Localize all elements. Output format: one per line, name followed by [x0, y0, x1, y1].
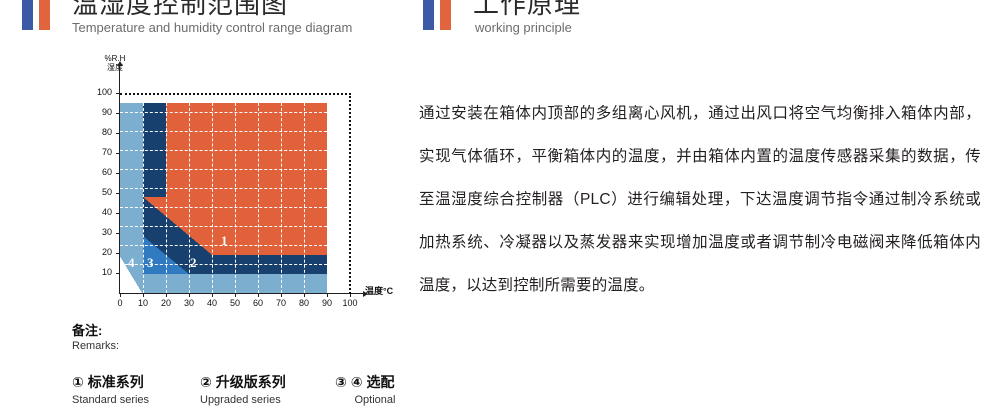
y-tick [116, 93, 119, 94]
region-label-1: 1 [221, 233, 228, 249]
y-tick-label-20: 20 [86, 247, 112, 257]
y-tick [116, 253, 119, 254]
legend-text-cn-2: 升级版系列 [216, 374, 286, 390]
y-tick-label-10: 10 [86, 267, 112, 277]
x-tick [327, 294, 328, 297]
y-tick-label-100: 100 [86, 87, 112, 97]
y-tick [116, 193, 119, 194]
gridline-h [120, 150, 327, 151]
y-tick [116, 153, 119, 154]
right-title-en: working principle [475, 20, 572, 35]
remarks-title-cn: 备注: [72, 320, 452, 339]
legend-marker-1: ① [72, 374, 84, 390]
x-tick [258, 294, 259, 297]
left-title-cn: 温湿度控制范围图 [72, 0, 288, 21]
x-tick-label-30: 30 [179, 298, 199, 308]
x-tick-label-100: 100 [340, 298, 360, 308]
legend-marker-34: ③ ④ [335, 374, 363, 390]
region-fill-container: 1 2 3 4 [120, 103, 327, 293]
gridline-h [120, 131, 327, 132]
legend-item-optional: ③ ④ 选配 Optional [335, 372, 415, 406]
y-tick-label-30: 30 [86, 227, 112, 237]
x-tick [350, 294, 351, 297]
plot-area: 1 2 3 4 [120, 93, 350, 293]
right-title-cn: 工作原理 [473, 0, 581, 21]
legend-item-label-cn: ① 标准系列 [72, 372, 149, 392]
y-tick [116, 173, 119, 174]
x-tick-label-70: 70 [271, 298, 291, 308]
x-tick-label-80: 80 [294, 298, 314, 308]
legend-marker-2: ② [200, 374, 212, 390]
legend-item-label-cn: ③ ④ 选配 [335, 372, 415, 392]
x-tick [304, 294, 305, 297]
humidity-temperature-chart: %R.H 湿度 温度°C [62, 52, 412, 312]
x-axis-label: 温度°C [365, 284, 393, 297]
x-tick-label-20: 20 [156, 298, 176, 308]
legend-text-cn-1: 标准系列 [88, 374, 144, 390]
page-root: 温湿度控制范围图 Temperature and humidity contro… [0, 0, 1002, 414]
y-tick-label-40: 40 [86, 207, 112, 217]
y-tick [116, 213, 119, 214]
header-accent-bars [423, 0, 451, 30]
x-tick [235, 294, 236, 297]
legend-item-upgraded: ② 升级版系列 Upgraded series [200, 372, 286, 406]
legend-item-label-en: Upgraded series [200, 394, 286, 406]
accent-bar-orange-icon [39, 0, 50, 30]
accent-bar-blue-icon [22, 0, 33, 30]
y-tick [116, 113, 119, 114]
legend-item-label-en: Optional [335, 394, 415, 406]
x-tick [281, 294, 282, 297]
legend-text-cn-34: 选配 [367, 374, 395, 390]
header-accent-bars [22, 0, 50, 30]
accent-bar-blue-icon [423, 0, 434, 30]
remarks-block: 备注: Remarks: ① 标准系列 Standard series ② 升级… [72, 320, 452, 352]
x-tick-label-0: 0 [110, 298, 130, 308]
x-axis-arrow-icon [363, 291, 368, 297]
x-tick [166, 294, 167, 297]
y-tick-label-70: 70 [86, 147, 112, 157]
temperature-max-dotted-line [349, 93, 351, 294]
x-tick-label-60: 60 [248, 298, 268, 308]
x-tick-label-10: 10 [133, 298, 153, 308]
gridline-h [120, 169, 327, 170]
y-tick-label-80: 80 [86, 127, 112, 137]
y-tick-label-90: 90 [86, 107, 112, 117]
y-tick [116, 133, 119, 134]
humidity-max-dotted-line [120, 93, 351, 95]
legend-item-label-cn: ② 升级版系列 [200, 372, 286, 392]
left-title-en: Temperature and humidity control range d… [72, 20, 352, 35]
gridline-h [120, 226, 327, 227]
x-tick [212, 294, 213, 297]
x-tick [120, 294, 121, 297]
y-tick [116, 233, 119, 234]
y-tick-label-50: 50 [86, 187, 112, 197]
region-label-4: 4 [128, 255, 135, 271]
legend-item-label-en: Standard series [72, 394, 149, 406]
region-label-2: 2 [190, 255, 197, 271]
x-tick-label-40: 40 [202, 298, 222, 308]
y-tick [116, 273, 119, 274]
gridline-h [120, 207, 327, 208]
region-label-3: 3 [147, 255, 154, 271]
x-tick [189, 294, 190, 297]
x-tick-label-90: 90 [317, 298, 337, 308]
x-tick-label-50: 50 [225, 298, 245, 308]
gridline-h [120, 112, 327, 113]
accent-bar-orange-icon [440, 0, 451, 30]
y-axis-label: %R.H 湿度 [92, 54, 138, 72]
working-principle-paragraph: 通过安装在箱体内顶部的多组离心风机，通过出风口将空气均衡排入箱体内部，实现气体循… [419, 92, 981, 307]
legend-item-standard: ① 标准系列 Standard series [72, 372, 149, 406]
gridline-h [120, 188, 327, 189]
remarks-title-en: Remarks: [72, 340, 452, 352]
x-tick [143, 294, 144, 297]
y-axis-arrow-icon [117, 61, 123, 66]
y-tick-label-60: 60 [86, 167, 112, 177]
